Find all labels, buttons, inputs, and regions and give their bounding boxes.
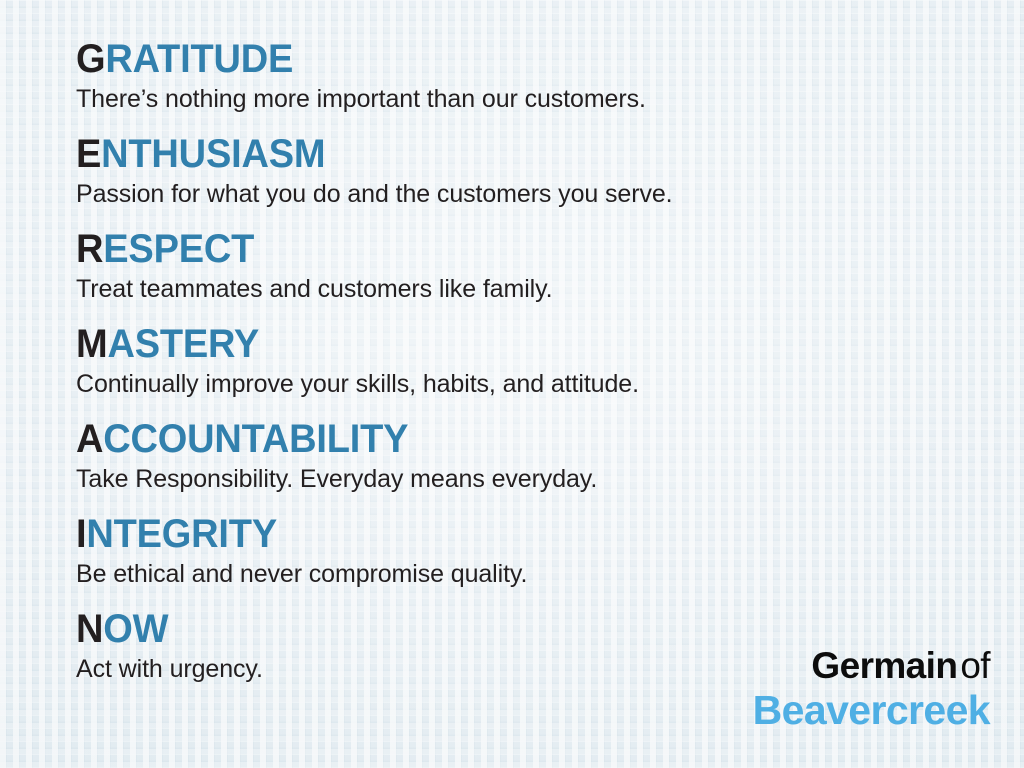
value-heading-respect: RESPECT	[76, 226, 931, 272]
value-initial: G	[76, 37, 105, 81]
value-row: ACCOUNTABILITY Take Responsibility. Ever…	[76, 416, 976, 496]
logo-location-name: Beavercreek	[753, 688, 990, 732]
value-row: MASTERY Continually improve your skills,…	[76, 321, 976, 401]
value-heading-gratitude: GRATITUDE	[76, 36, 931, 82]
value-heading-mastery: MASTERY	[76, 321, 931, 367]
logo-connector-word: of	[960, 645, 990, 686]
logo-primary-line: Germainof	[753, 646, 990, 686]
value-heading-enthusiasm: ENTHUSIASM	[76, 131, 931, 177]
value-heading-rest: OW	[103, 607, 168, 651]
value-heading-rest: CCOUNTABILITY	[103, 417, 408, 461]
values-poster: GRATITUDE There’s nothing more important…	[0, 0, 1024, 768]
value-heading-rest: RATITUDE	[105, 37, 293, 81]
value-heading-integrity: INTEGRITY	[76, 511, 931, 557]
value-row: ENTHUSIASM Passion for what you do and t…	[76, 131, 976, 211]
value-description: There’s nothing more important than our …	[76, 83, 976, 116]
value-initial: M	[76, 322, 107, 366]
value-initial: N	[76, 607, 103, 651]
core-values-list: GRATITUDE There’s nothing more important…	[76, 36, 976, 701]
value-initial: R	[76, 227, 103, 271]
value-heading-accountability: ACCOUNTABILITY	[76, 416, 931, 462]
value-description: Take Responsibility. Everyday means ever…	[76, 463, 976, 496]
value-heading-rest: NTHUSIASM	[101, 132, 325, 176]
value-heading-rest: ASTERY	[107, 322, 259, 366]
value-row: GRATITUDE There’s nothing more important…	[76, 36, 976, 116]
value-description: Be ethical and never compromise quality.	[76, 558, 976, 591]
value-description: Passion for what you do and the customer…	[76, 178, 976, 211]
value-initial: A	[76, 417, 103, 461]
value-initial: E	[76, 132, 101, 176]
value-description: Treat teammates and customers like famil…	[76, 273, 976, 306]
dealership-logo: Germainof Beavercreek	[753, 646, 990, 732]
value-heading-rest: ESPECT	[103, 227, 254, 271]
value-initial: I	[76, 512, 86, 556]
logo-brand-name: Germain	[811, 645, 957, 686]
value-heading-rest: NTEGRITY	[86, 512, 277, 556]
value-description: Continually improve your skills, habits,…	[76, 368, 976, 401]
value-row: RESPECT Treat teammates and customers li…	[76, 226, 976, 306]
value-row: INTEGRITY Be ethical and never compromis…	[76, 511, 976, 591]
